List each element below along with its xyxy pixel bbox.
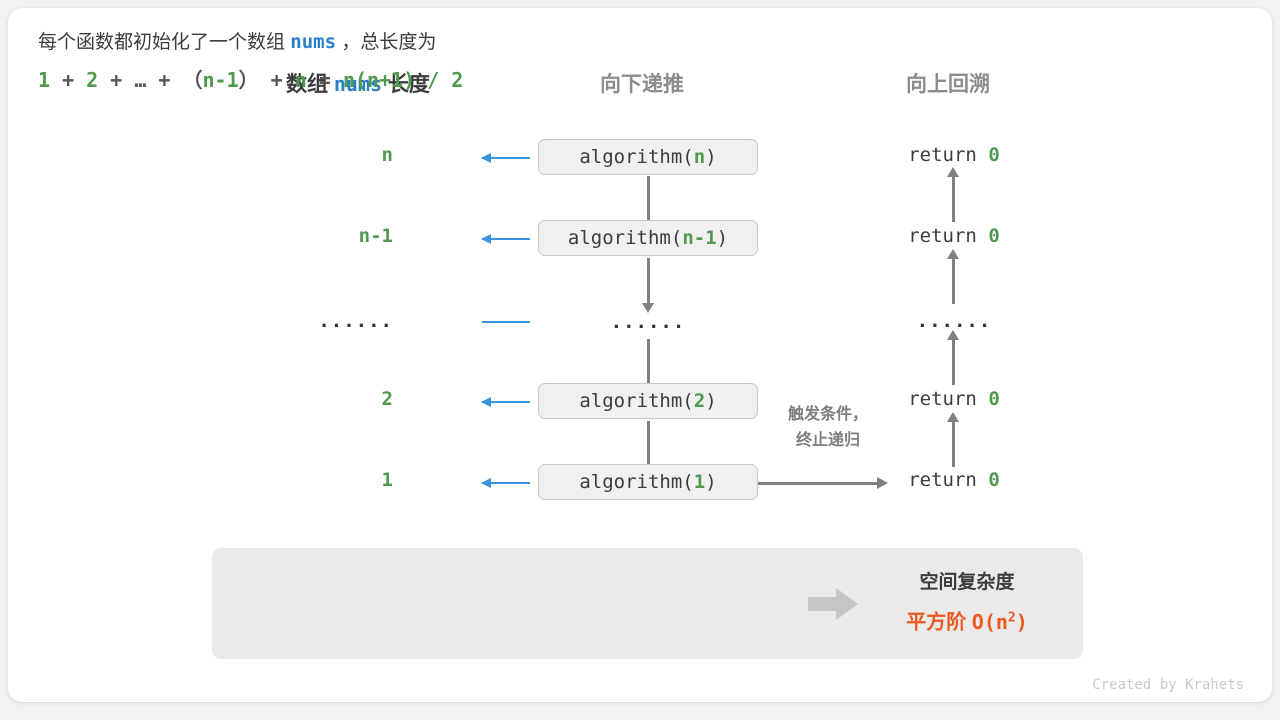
return-value-2: 0 xyxy=(988,225,999,247)
return-value-5: 0 xyxy=(988,469,999,491)
array-length-ellipsis: ······ xyxy=(318,315,393,337)
formula-part-5: ） + xyxy=(239,68,295,92)
formula-part-7: = xyxy=(307,68,343,92)
call-box-2[interactable]: algorithm(n-1) xyxy=(538,220,758,256)
diagram-card: 数组 nums 长度 向下递推 向上回溯 n algorithm(n) retu… xyxy=(8,8,1272,702)
return-label-ellipsis: ······ xyxy=(846,315,1062,337)
termination-note-line2: 终止递归 xyxy=(768,428,888,454)
column-header-backtrack-up: 向上回溯 xyxy=(906,68,990,98)
up-connector-1 xyxy=(952,176,955,222)
call-box-4[interactable]: algorithm(2) xyxy=(538,383,758,419)
call-paren-close-1: ) xyxy=(705,146,716,168)
return-keyword-5: return xyxy=(908,469,977,491)
up-connector-3 xyxy=(952,339,955,385)
termination-note: 触发条件， 终止递归 xyxy=(768,402,888,454)
up-connector-2 xyxy=(952,258,955,304)
formula-part-4: n-1 xyxy=(203,68,239,92)
call-box-5[interactable]: algorithm(1) xyxy=(538,464,758,500)
up-connector-4 xyxy=(952,421,955,467)
complexity-block: 空间复杂度 平方阶 O(n2) xyxy=(870,566,1064,641)
credit-footer: Created by Krahets xyxy=(1092,677,1244,693)
complexity-big-o-close: ) xyxy=(1016,610,1028,634)
array-length-1: n xyxy=(382,144,393,166)
base-case-arrow-icon xyxy=(758,482,878,485)
down-connector-2 xyxy=(647,258,650,304)
formula-part-3: + … + （ xyxy=(98,68,202,92)
array-length-4: 2 xyxy=(382,388,393,410)
formula-part-1: + xyxy=(50,68,86,92)
call-paren-close-4: ) xyxy=(705,390,716,412)
summary-formula: 1 + 2 + … + （n-1） + n = n(n+1) / 2 xyxy=(38,60,598,100)
call-box-1[interactable]: algorithm(n) xyxy=(538,139,758,175)
blue-left-arrow-ellipsis xyxy=(482,321,530,323)
summary-sentence-after: ，总长度为 xyxy=(341,32,436,53)
return-keyword-2: return xyxy=(908,225,977,247)
formula-part-6: n xyxy=(295,68,307,92)
summary-text-block: 每个函数都初始化了一个数组 nums ，总长度为 1 + 2 + … + （n-… xyxy=(38,25,598,100)
return-keyword-1: return xyxy=(908,144,977,166)
return-value-1: 0 xyxy=(988,144,999,166)
return-keyword-4: return xyxy=(908,388,977,410)
array-length-5: 1 xyxy=(382,469,393,491)
column-header-recurse-down: 向下递推 xyxy=(600,68,684,98)
call-paren-open-1: ( xyxy=(682,146,693,168)
blue-left-arrow-5 xyxy=(482,482,530,484)
complexity-title: 空间复杂度 xyxy=(870,566,1064,600)
call-arg-2: n-1 xyxy=(682,227,716,249)
return-label-1: return 0 xyxy=(846,144,1062,166)
call-name-4: algorithm xyxy=(579,390,682,412)
call-name-5: algorithm xyxy=(579,471,682,493)
right-arrow-icon xyxy=(808,586,860,622)
call-arg-5: 1 xyxy=(694,471,705,493)
blue-left-arrow-4 xyxy=(482,401,530,403)
call-paren-open-2: ( xyxy=(671,227,682,249)
complexity-exponent: 2 xyxy=(1008,610,1016,625)
call-arg-4: 2 xyxy=(694,390,705,412)
call-paren-close-2: ) xyxy=(717,227,728,249)
complexity-big-o-open: O(n xyxy=(972,610,1008,634)
call-paren-open-4: ( xyxy=(682,390,693,412)
summary-sentence: 每个函数都初始化了一个数组 nums ，总长度为 xyxy=(38,25,598,60)
termination-note-line1: 触发条件， xyxy=(768,402,888,428)
return-label-2: return 0 xyxy=(846,225,1062,247)
complexity-label: 平方阶 xyxy=(906,612,966,634)
array-length-2: n-1 xyxy=(359,225,393,247)
call-name-1: algorithm xyxy=(579,146,682,168)
complexity-value: 平方阶 O(n2) xyxy=(870,600,1064,641)
summary-sentence-before: 每个函数都初始化了一个数组 xyxy=(38,32,285,53)
complexity-big-o: O(n2) xyxy=(972,610,1028,634)
call-box-ellipsis: ······ xyxy=(538,316,758,338)
formula-part-8: n(n+1) / 2 xyxy=(343,68,463,92)
down-connector-1 xyxy=(647,176,650,222)
call-paren-close-5: ) xyxy=(705,471,716,493)
formula-part-2: 2 xyxy=(86,68,98,92)
call-name-2: algorithm xyxy=(568,227,671,249)
blue-left-arrow-1 xyxy=(482,157,530,159)
return-value-4: 0 xyxy=(988,388,999,410)
blue-left-arrow-2 xyxy=(482,238,530,240)
down-connector-4 xyxy=(647,421,650,467)
call-arg-1: n xyxy=(694,146,705,168)
summary-sentence-keyword: nums xyxy=(290,31,336,53)
formula-part-0: 1 xyxy=(38,68,50,92)
down-connector-3 xyxy=(647,339,650,385)
call-paren-open-5: ( xyxy=(682,471,693,493)
